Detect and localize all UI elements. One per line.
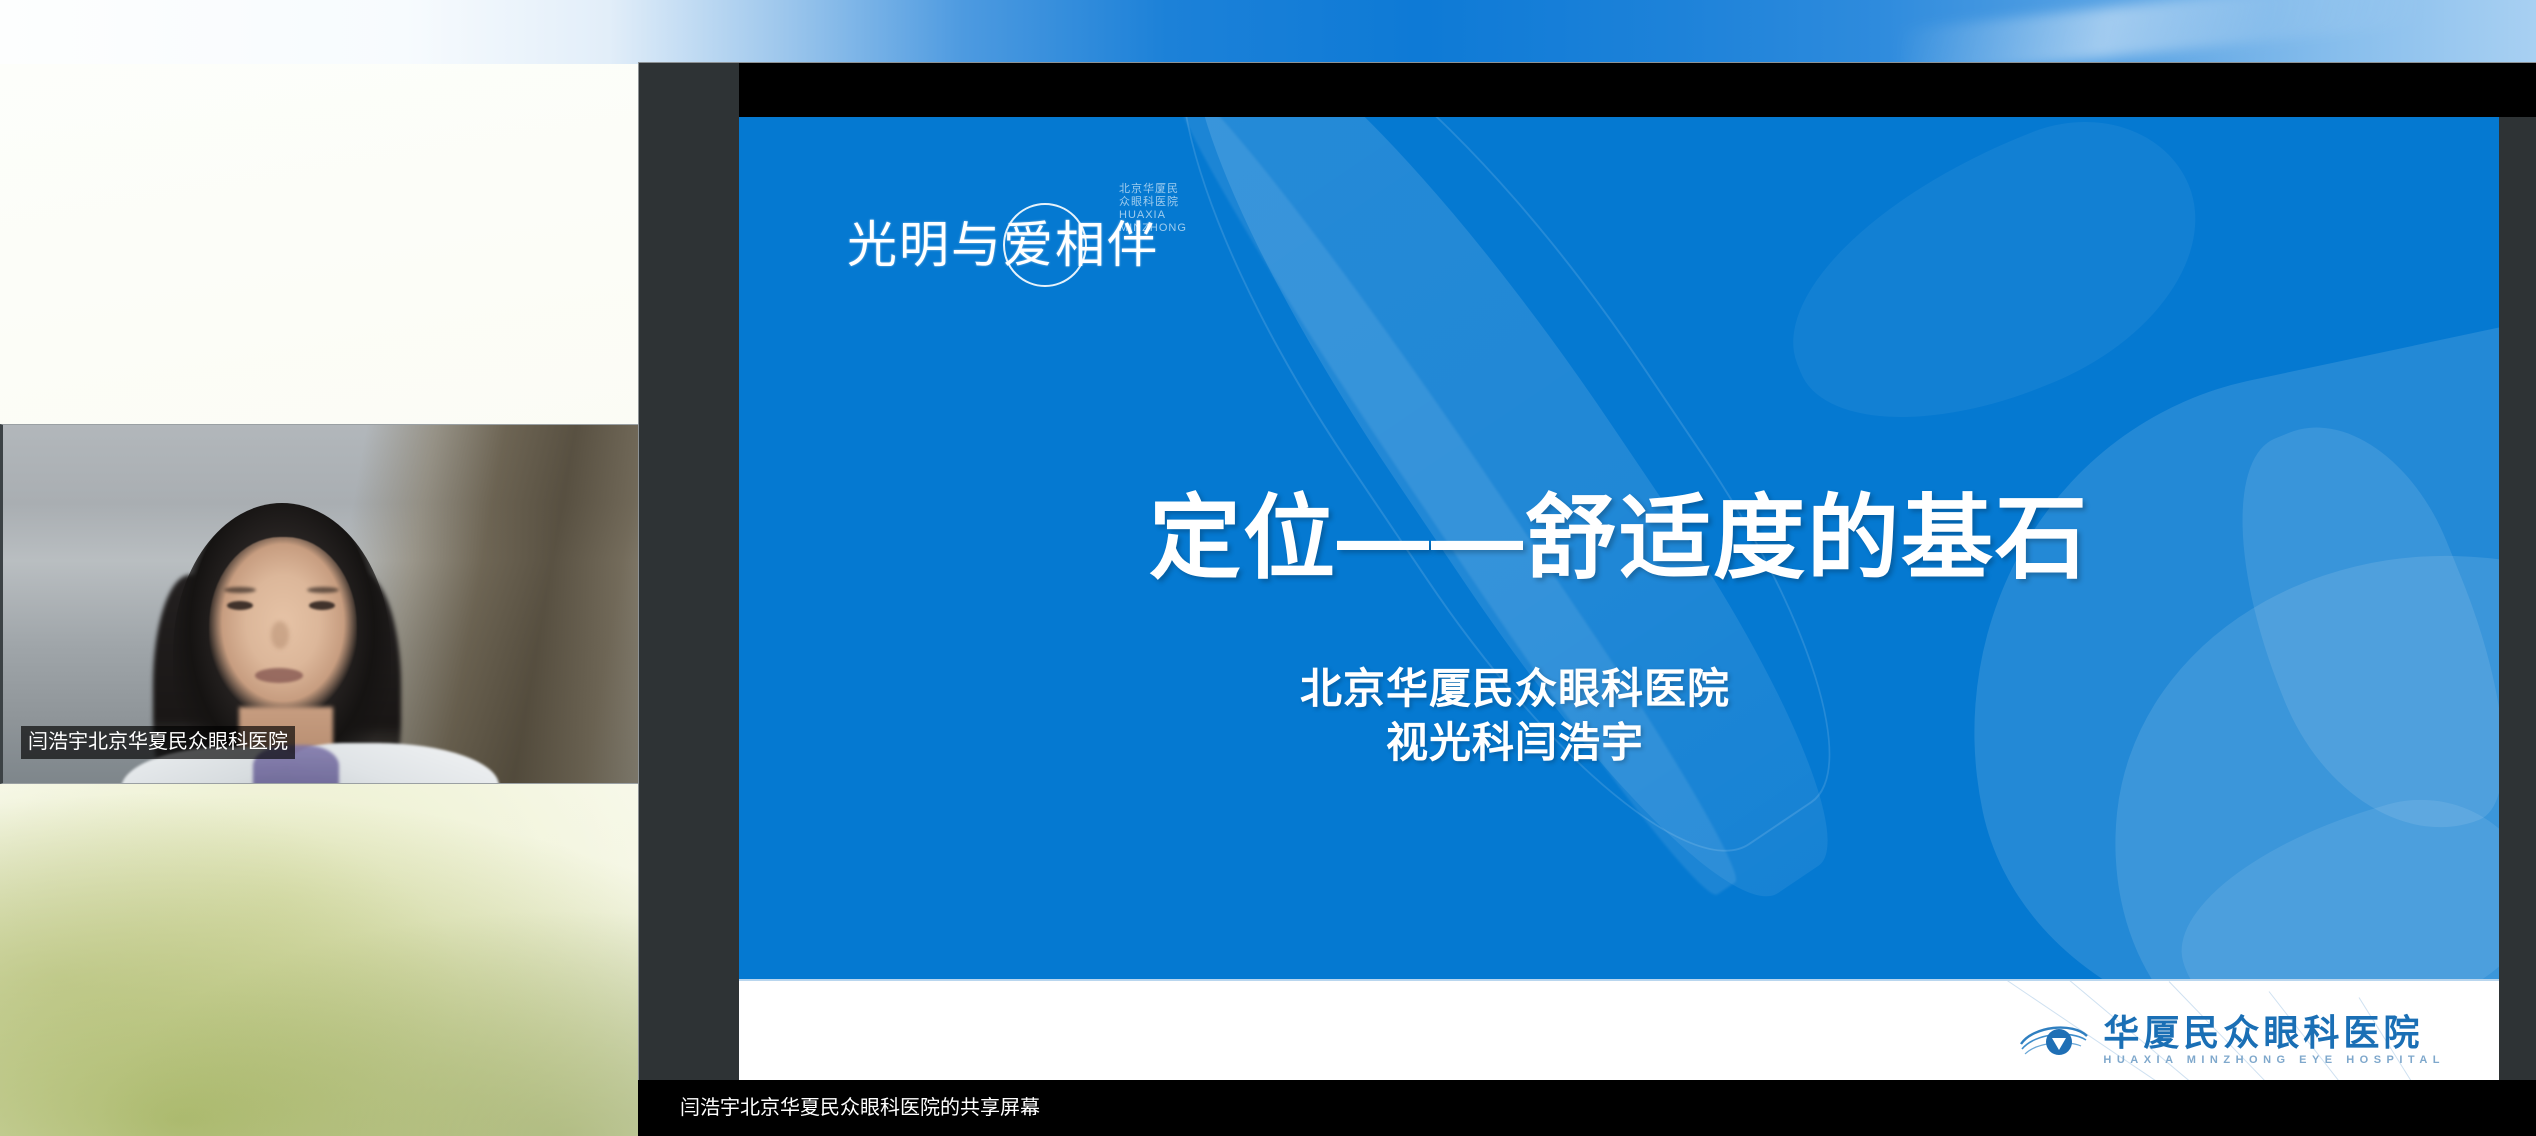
video-subject-nose [271,621,289,649]
video-subject-brow-left [224,587,256,593]
slide-footer-logo-cn: 华厦民众眼科医院 [2103,1013,2445,1053]
slide-brand-logo-ring-icon [1003,203,1087,287]
video-subject-mouth [255,668,303,683]
share-status-bar: 闫浩宇北京华夏民众眼科医院的共享屏幕 [638,1080,2536,1136]
participant-video-tile[interactable]: 闫浩宇北京华夏民众眼科医院 [0,424,640,784]
zoom-meeting-screen: 闫浩宇北京华夏民众眼科医院 光明与爱相伴 北京华厦民众眼科医院 HUAXIA M… [0,0,2536,1136]
slide-footer-logo: 华厦民众眼科医院 HUAXIA MINZHONG EYE HOSPITAL [2019,1013,2445,1068]
eye-icon [2019,1020,2089,1062]
share-status-label: 闫浩宇北京华夏民众眼科医院的共享屏幕 [638,1095,1040,1121]
slide-brand-logo: 光明与爱相伴 北京华厦民众眼科医院 HUAXIA MINZHONG [847,217,1159,273]
slide-subtitle-line2: 视光科闫浩宇 [739,716,2291,770]
slide-footer-logo-en: HUAXIA MINZHONG EYE HOSPITAL [2103,1053,2445,1068]
presentation-slide: 光明与爱相伴 北京华厦民众眼科医院 HUAXIA MINZHONG 定位——舒适… [739,117,2499,1136]
slide-subtitle: 北京华厦民众眼科医院 视光科闫浩宇 [739,662,2499,770]
participant-name-label: 闫浩宇北京华夏民众眼科医院 [21,726,295,759]
shared-screen-panel[interactable]: 光明与爱相伴 北京华厦民众眼科医院 HUAXIA MINZHONG 定位——舒适… [638,62,2536,1136]
slide-title: 定位——舒适度的基石 [739,487,2499,591]
video-subject-eye-right [309,601,335,610]
slide-footer-logo-text: 华厦民众眼科医院 HUAXIA MINZHONG EYE HOSPITAL [2103,1013,2445,1068]
video-subject-brow-right [307,587,339,593]
slide-subtitle-line1: 北京华厦民众眼科医院 [739,662,2291,716]
video-subject-eye-left [227,601,253,610]
slide-blue-canvas: 光明与爱相伴 北京华厦民众眼科医院 HUAXIA MINZHONG 定位——舒适… [739,117,2499,979]
shared-screen-letterbox [739,63,2536,117]
slide-brand-logo-subtext: 北京华厦民众眼科医院 HUAXIA MINZHONG [1119,183,1187,235]
